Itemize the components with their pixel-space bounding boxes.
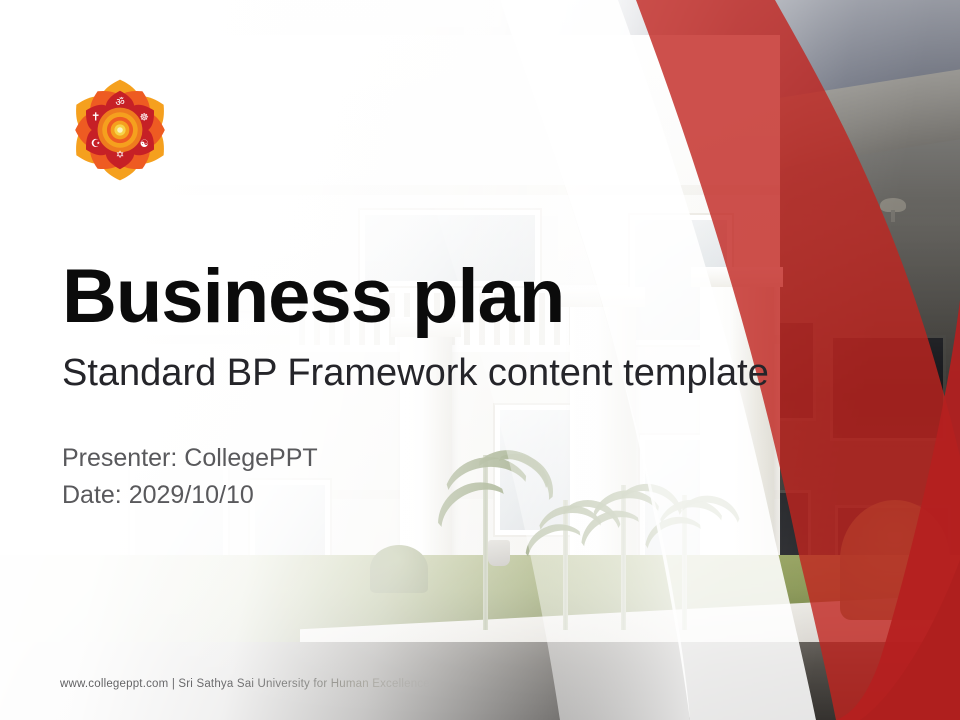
presenter-line: Presenter: CollegePPT: [62, 440, 318, 477]
dharma-wheel-symbol: ☸: [140, 112, 149, 124]
star-of-david-symbol: ✡: [116, 149, 125, 161]
title-slide: ॐ ✝ ☪ ✡ ☯ ☸ Business plan Standard BP Fr…: [0, 0, 960, 720]
cross-symbol: ✝: [91, 111, 100, 124]
date-line: Date: 2029/10/10: [62, 477, 318, 514]
crescent-star-symbol: ☪: [91, 137, 101, 150]
page-title: Business plan: [62, 258, 564, 336]
fire-altar-symbol: ☯: [140, 138, 149, 150]
om-symbol: ॐ: [115, 97, 124, 109]
sarva-dharma-lotus-icon: ॐ ✝ ☪ ✡ ☯ ☸: [62, 74, 178, 186]
page-subtitle: Standard BP Framework content template: [62, 352, 769, 396]
footer-credit: www.collegeppt.com | Sri Sathya Sai Univ…: [60, 678, 430, 690]
presentation-meta: Presenter: CollegePPT Date: 2029/10/10: [62, 440, 318, 514]
